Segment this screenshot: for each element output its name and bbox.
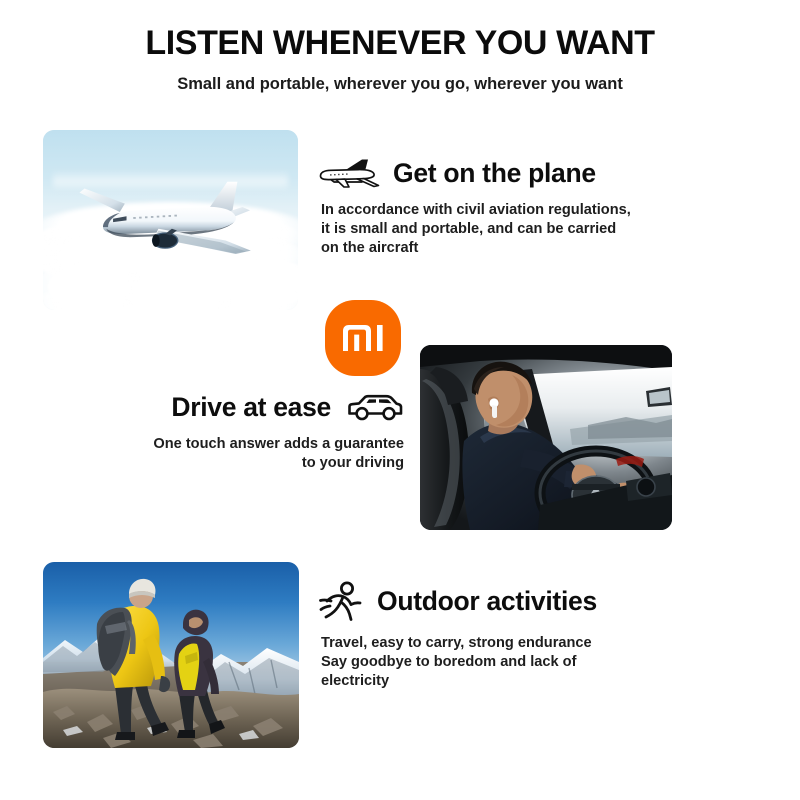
feature-heading-row: Get on the plane (318, 156, 718, 190)
page-subtitle: Small and portable, wherever you go, whe… (0, 75, 800, 94)
airplane-icon (318, 156, 380, 190)
feature-description: One touch answer adds a guarantee to you… (84, 435, 404, 473)
driver-photo (420, 345, 672, 530)
hikers-illustration (43, 562, 299, 748)
feature-title: Get on the plane (393, 158, 596, 189)
driver-illustration (420, 345, 672, 530)
feature-block-plane: Get on the plane In accordance with civi… (318, 156, 718, 258)
running-person-icon (318, 580, 362, 622)
airliner-illustration (58, 170, 282, 271)
page-title: LISTEN WHENEVER YOU WANT (0, 24, 800, 63)
feature-title: Outdoor activities (377, 586, 597, 617)
feature-description: Travel, easy to carry, strong endurance … (321, 634, 718, 691)
feature-heading-row: Drive at ease (84, 392, 404, 423)
promo-banner: LISTEN WHENEVER YOU WANT Small and porta… (0, 0, 800, 800)
car-icon (346, 393, 404, 423)
feature-heading-row: Outdoor activities (318, 580, 718, 622)
mi-logo-icon (325, 300, 401, 376)
hikers-photo (43, 562, 299, 748)
feature-title: Drive at ease (171, 392, 331, 423)
airliner-photo (43, 130, 298, 310)
feature-description: In accordance with civil aviation regula… (321, 201, 718, 258)
feature-block-drive: Drive at ease One touch answer adds a gu… (84, 392, 404, 473)
feature-block-outdoor: Outdoor activities Travel, easy to carry… (318, 580, 718, 691)
